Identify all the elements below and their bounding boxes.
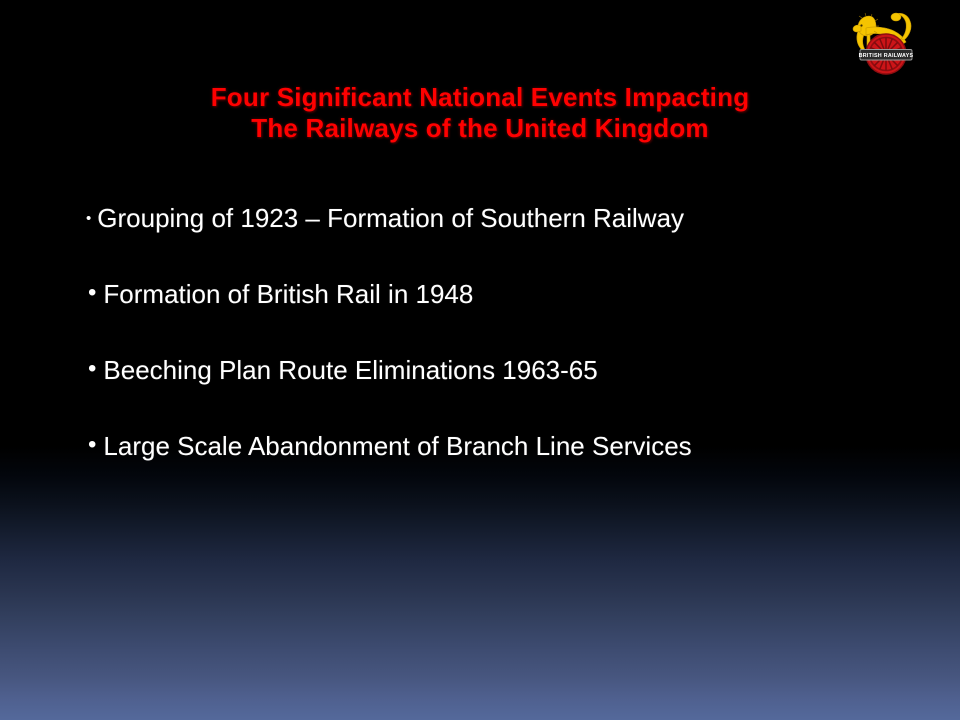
bullet-item-4: • Large Scale Abandonment of Branch Line… xyxy=(86,431,906,507)
bullet-text-2: Formation of British Rail in 1948 xyxy=(103,279,473,309)
bullet-marker-icon: • xyxy=(88,433,96,457)
title-line-1: Four Significant National Events Impacti… xyxy=(0,82,960,113)
bullet-text-1: Grouping of 1923 – Formation of Southern… xyxy=(97,203,684,233)
bullet-text-4: Large Scale Abandonment of Branch Line S… xyxy=(103,431,691,461)
bullet-marker-icon: • xyxy=(86,211,91,226)
slide-title: Four Significant National Events Impacti… xyxy=(0,82,960,144)
lion-and-wheel-icon: BRITISH RAILWAYS xyxy=(836,4,936,76)
title-line-2: The Railways of the United Kingdom xyxy=(0,113,960,144)
bullet-item-2: • Formation of British Rail in 1948 xyxy=(86,279,906,355)
slide: BRITISH RAILWAYS Four Significant Nation… xyxy=(0,0,960,720)
bullet-text-3: Beeching Plan Route Eliminations 1963-65 xyxy=(103,355,597,385)
bullet-marker-icon: • xyxy=(88,357,96,381)
bullet-marker-icon: • xyxy=(88,281,96,305)
logo-plate: BRITISH RAILWAYS xyxy=(859,50,914,61)
bullet-item-3: • Beeching Plan Route Eliminations 1963-… xyxy=(86,355,906,431)
british-railways-logo: BRITISH RAILWAYS xyxy=(836,4,936,76)
logo-plate-text: BRITISH RAILWAYS xyxy=(859,53,914,59)
bullet-item-1: • Grouping of 1923 – Formation of Southe… xyxy=(86,203,906,279)
bullet-list: • Grouping of 1923 – Formation of Southe… xyxy=(86,203,906,507)
